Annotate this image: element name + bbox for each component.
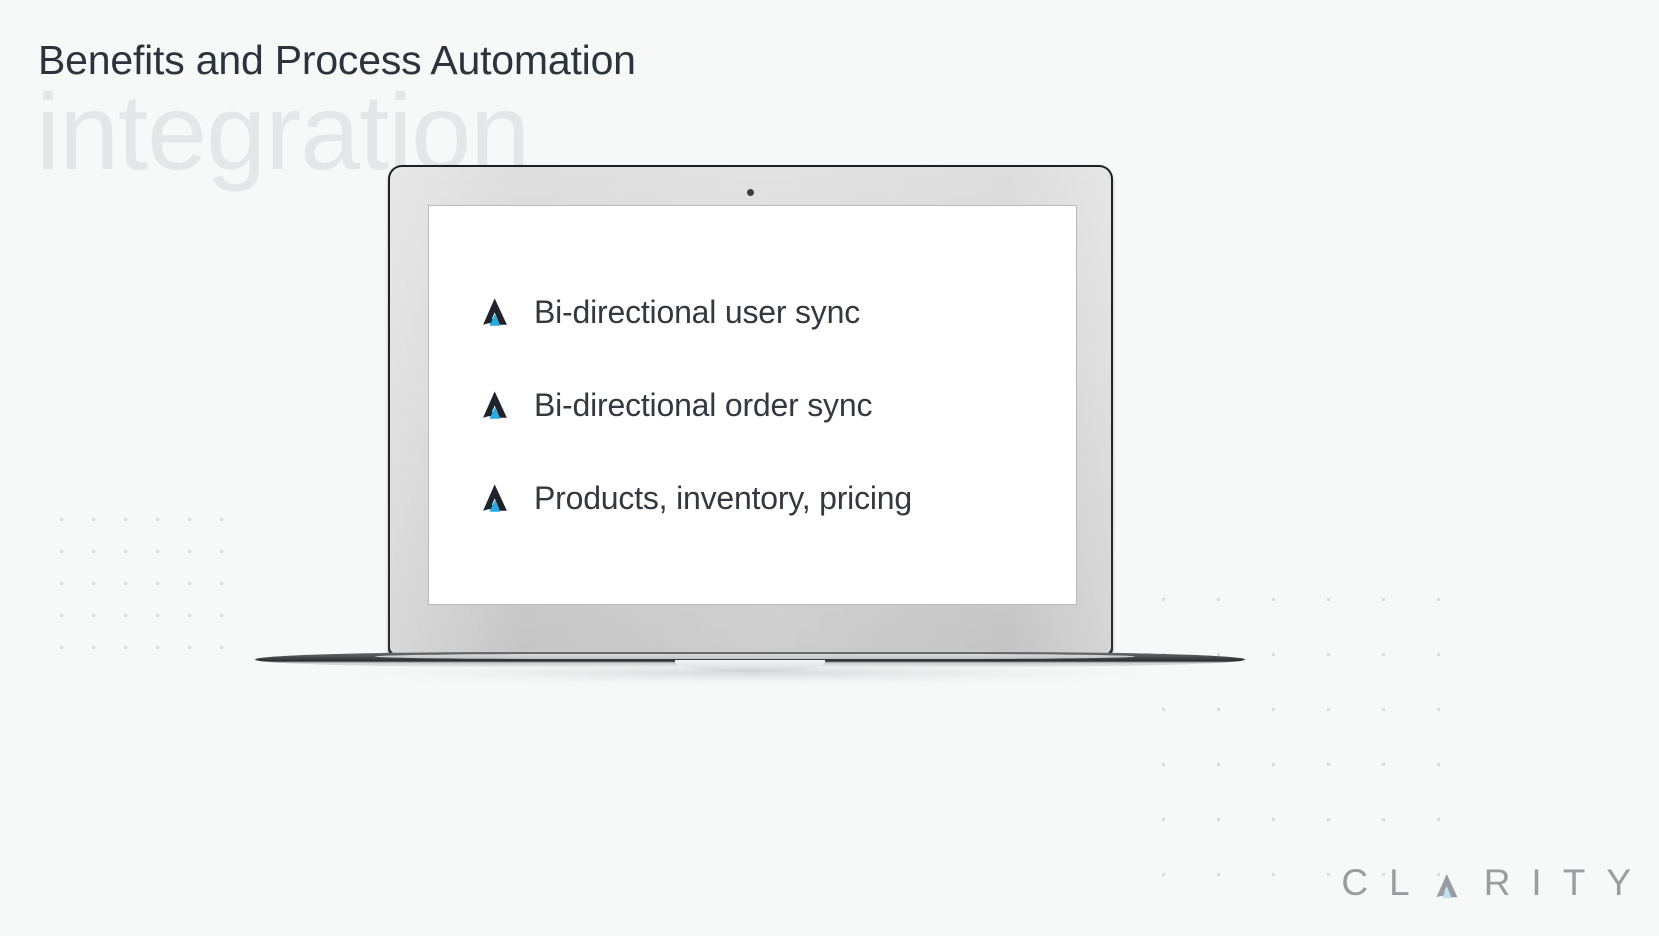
laptop-base: [250, 649, 1250, 683]
list-item: Bi-directional order sync: [478, 387, 1077, 424]
grid-dot: [1327, 873, 1330, 876]
grid-dot: [1217, 873, 1220, 876]
grid-dot: [1437, 818, 1440, 821]
grid-dot: [156, 582, 159, 585]
laptop-screen: Bi-directional user sync Bi-directional …: [428, 205, 1077, 605]
grid-dot: [188, 646, 191, 649]
grid-dot: [60, 550, 63, 553]
logo-letter-l: L: [1389, 862, 1410, 904]
grid-dot: [124, 518, 127, 521]
list-item-label: Bi-directional user sync: [534, 294, 860, 331]
grid-dot: [92, 646, 95, 649]
grid-dot: [156, 646, 159, 649]
grid-dot: [1162, 763, 1165, 766]
clarity-mountain-icon: [478, 295, 512, 329]
list-item: Bi-directional user sync: [478, 294, 1077, 331]
laptop-bezel: Bi-directional user sync Bi-directional …: [390, 167, 1111, 654]
grid-dot: [1382, 818, 1385, 821]
grid-dot: [92, 582, 95, 585]
grid-dot: [1382, 708, 1385, 711]
logo-letter-r: R: [1484, 862, 1511, 904]
webcam-icon: [747, 189, 754, 196]
list-item-label: Bi-directional order sync: [534, 387, 872, 424]
clarity-mountain-icon: [1431, 871, 1463, 901]
grid-dot: [220, 582, 223, 585]
grid-dot: [188, 550, 191, 553]
grid-dot: [1272, 598, 1275, 601]
grid-dot: [1437, 653, 1440, 656]
logo-letter-c: C: [1341, 862, 1368, 904]
laptop-mockup: Bi-directional user sync Bi-directional …: [250, 165, 1250, 685]
grid-dot: [1217, 763, 1220, 766]
grid-dot: [60, 614, 63, 617]
grid-dot: [1162, 708, 1165, 711]
grid-dot: [60, 582, 63, 585]
grid-dot: [1382, 598, 1385, 601]
laptop-base-highlight: [375, 654, 1135, 659]
grid-dot: [92, 614, 95, 617]
grid-dot: [124, 550, 127, 553]
grid-dot: [1327, 708, 1330, 711]
grid-dot: [1382, 653, 1385, 656]
logo-letter-y: Y: [1606, 862, 1631, 904]
grid-dot: [1437, 708, 1440, 711]
clarity-wordmark: C L R I T Y: [1341, 862, 1631, 904]
bullet-list: Bi-directional user sync Bi-directional …: [428, 205, 1077, 605]
list-item: Products, inventory, pricing: [478, 480, 1077, 517]
grid-dot: [124, 614, 127, 617]
grid-dot: [188, 582, 191, 585]
grid-dot: [1437, 598, 1440, 601]
clarity-mountain-icon: [478, 388, 512, 422]
grid-dot: [1272, 873, 1275, 876]
grid-dot: [156, 518, 159, 521]
grid-dot: [92, 518, 95, 521]
grid-dot: [1327, 763, 1330, 766]
grid-dot: [220, 518, 223, 521]
grid-dot: [60, 518, 63, 521]
grid-dot: [220, 614, 223, 617]
grid-dot: [1382, 763, 1385, 766]
slide-canvas: integration Benefits and Process Automat…: [0, 0, 1659, 936]
grid-dot: [1327, 598, 1330, 601]
grid-dot: [188, 614, 191, 617]
logo-letter-t: T: [1563, 862, 1586, 904]
grid-dot: [220, 550, 223, 553]
page-title: Benefits and Process Automation: [38, 38, 636, 83]
grid-dot: [92, 550, 95, 553]
list-item-label: Products, inventory, pricing: [534, 480, 912, 517]
grid-dot: [1162, 873, 1165, 876]
grid-dot: [1272, 818, 1275, 821]
grid-dot: [124, 646, 127, 649]
grid-dot: [1272, 763, 1275, 766]
logo-letter-i: I: [1531, 862, 1541, 904]
clarity-mountain-icon: [478, 481, 512, 515]
grid-dot: [1327, 653, 1330, 656]
grid-dot: [156, 550, 159, 553]
grid-dot: [60, 646, 63, 649]
grid-dot: [188, 518, 191, 521]
grid-dot: [1272, 708, 1275, 711]
grid-dot: [1217, 818, 1220, 821]
grid-dot: [1217, 708, 1220, 711]
grid-dot: [124, 582, 127, 585]
grid-dot: [1272, 653, 1275, 656]
grid-dot: [1162, 818, 1165, 821]
grid-dot: [1327, 818, 1330, 821]
grid-dot: [156, 614, 159, 617]
laptop-lid: Bi-directional user sync Bi-directional …: [388, 165, 1113, 657]
grid-dot: [1437, 763, 1440, 766]
grid-dot: [220, 646, 223, 649]
